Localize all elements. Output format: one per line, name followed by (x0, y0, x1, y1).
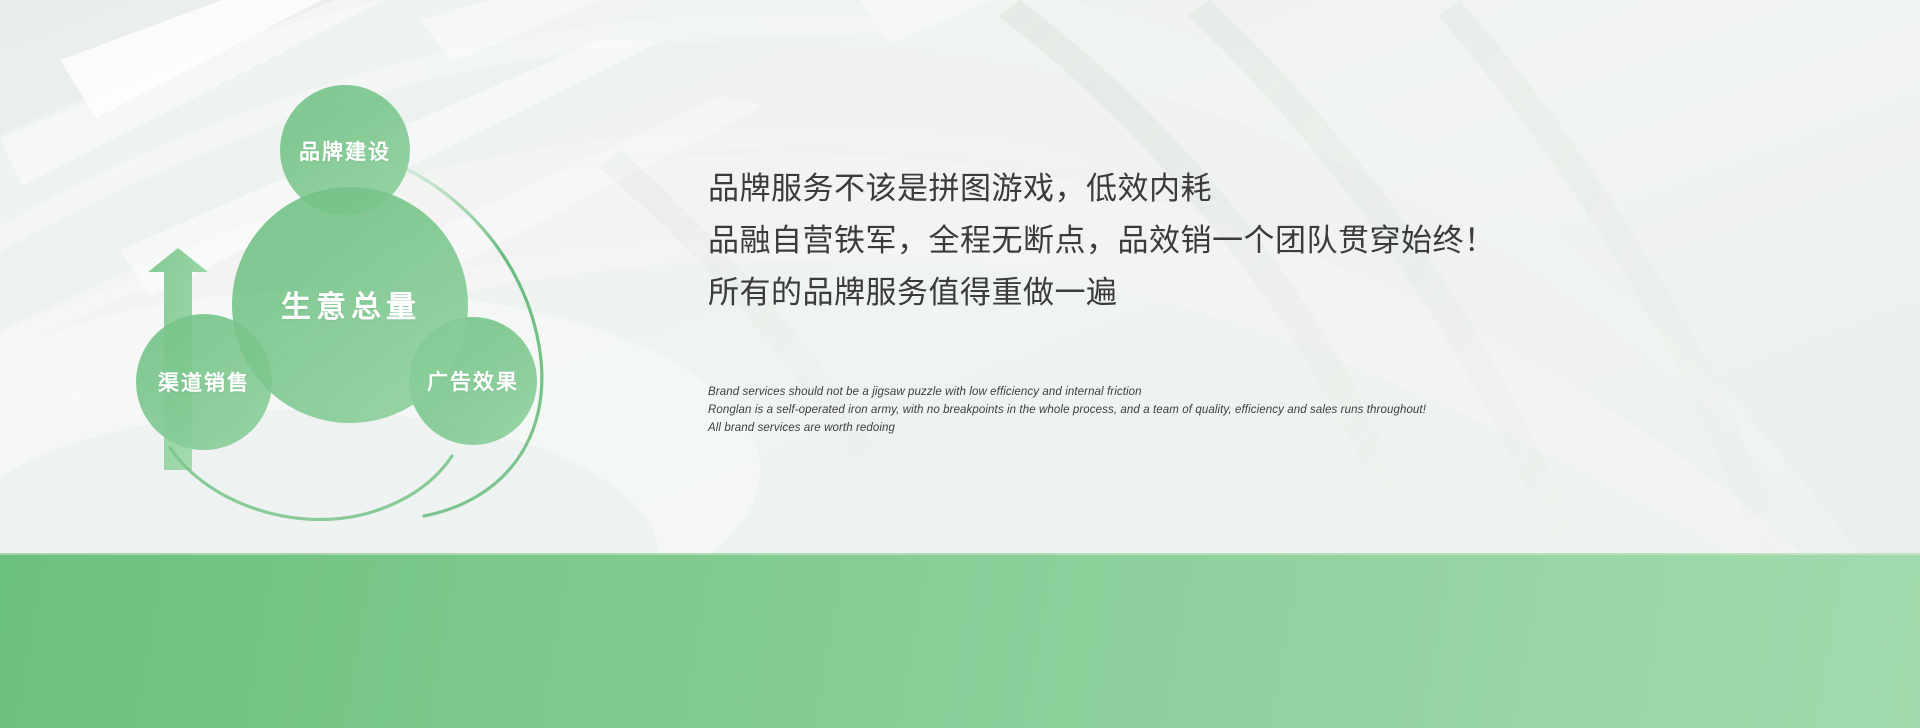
node-label-channel: 渠道销售 (158, 367, 250, 397)
headline-block: 品牌服务不该是拼图游戏，低效内耗 品融自营铁军，全程无断点，品效销一个团队贯穿始… (708, 163, 1858, 319)
headline-line-2: 品融自营铁军，全程无断点，品效销一个团队贯穿始终！ (708, 215, 1858, 267)
node-label-total: 生意总量 (281, 282, 421, 326)
subcopy-line-2: Ronglan is a self-operated iron army, wi… (708, 401, 1888, 419)
node-label-brand: 品牌建设 (299, 136, 391, 166)
headline-line-3: 所有的品牌服务值得重做一遍 (708, 267, 1858, 319)
banner-stage: 品牌建设 生意总量 渠道销售 广告效果 品牌服务不该是拼图游戏，低效内耗 品融自… (0, 0, 1920, 728)
node-label-ad: 广告效果 (427, 366, 519, 396)
business-diagram-svg (0, 0, 640, 560)
subcopy-block: Brand services should not be a jigsaw pu… (708, 383, 1888, 437)
subcopy-line-1: Brand services should not be a jigsaw pu… (708, 383, 1888, 401)
business-diagram: 品牌建设 生意总量 渠道销售 广告效果 (0, 0, 640, 560)
headline-line-1: 品牌服务不该是拼图游戏，低效内耗 (708, 163, 1858, 215)
subcopy-line-3: All brand services are worth redoing (708, 419, 1888, 437)
bottom-green-bar (0, 555, 1920, 728)
